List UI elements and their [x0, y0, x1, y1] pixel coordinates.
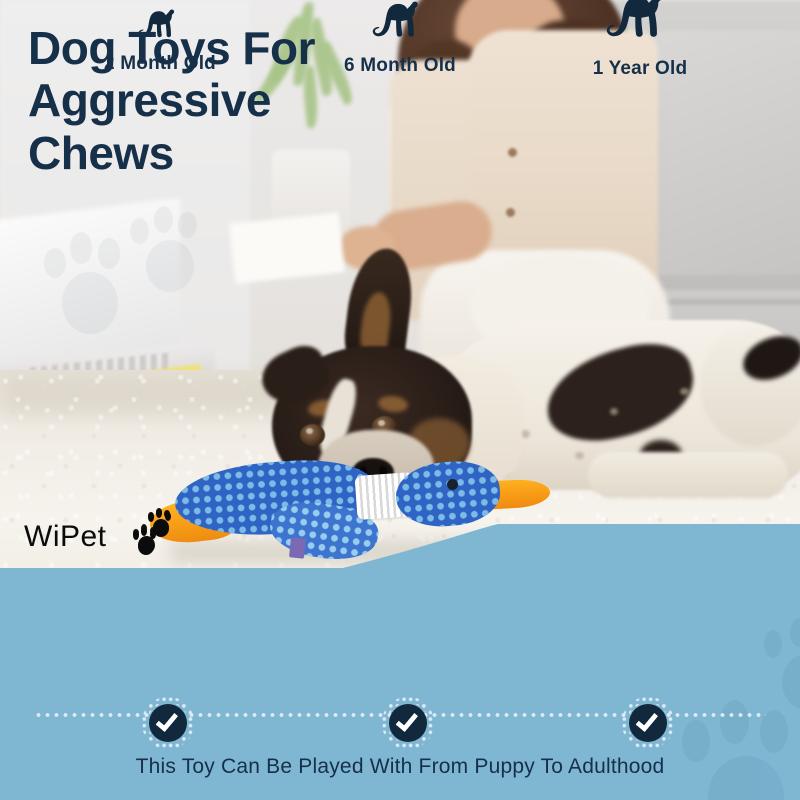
timeline-stage-1-year[interactable]: 1 Year Old [538, 0, 742, 80]
paw-print-icon [148, 509, 174, 537]
product-marketing-image: WiPet 2 Month Old [0, 0, 800, 800]
paw-print-watermark-icon [38, 232, 134, 338]
check-icon [149, 704, 187, 742]
paper-sheet [229, 212, 345, 283]
sofa-seam [648, 300, 800, 304]
stage-label: 1 Year Old [538, 58, 742, 80]
check-icon [389, 704, 427, 742]
headline-line-1: Dog Toys For [28, 22, 408, 74]
headline-line-3: Chews [28, 127, 408, 179]
stage-check-badge[interactable] [621, 696, 675, 750]
headline-line-2: Aggressive [28, 74, 408, 126]
stage-check-badge[interactable] [141, 696, 195, 750]
dog-eye-left [300, 424, 325, 446]
wave-divider [0, 524, 800, 654]
toy-eye [447, 479, 458, 490]
dog-silhouette-icon [538, 0, 742, 58]
page-title: Dog Toys For Aggressive Chews [28, 22, 408, 179]
paw-print-watermark-icon [762, 618, 800, 710]
dog-hind-leg [588, 452, 788, 498]
check-icon [629, 704, 667, 742]
toy-head [393, 458, 502, 531]
stage-check-badge[interactable] [381, 696, 435, 750]
timeline-caption: This Toy Can Be Played With From Puppy T… [0, 755, 800, 779]
paw-print-watermark-icon [126, 206, 204, 294]
